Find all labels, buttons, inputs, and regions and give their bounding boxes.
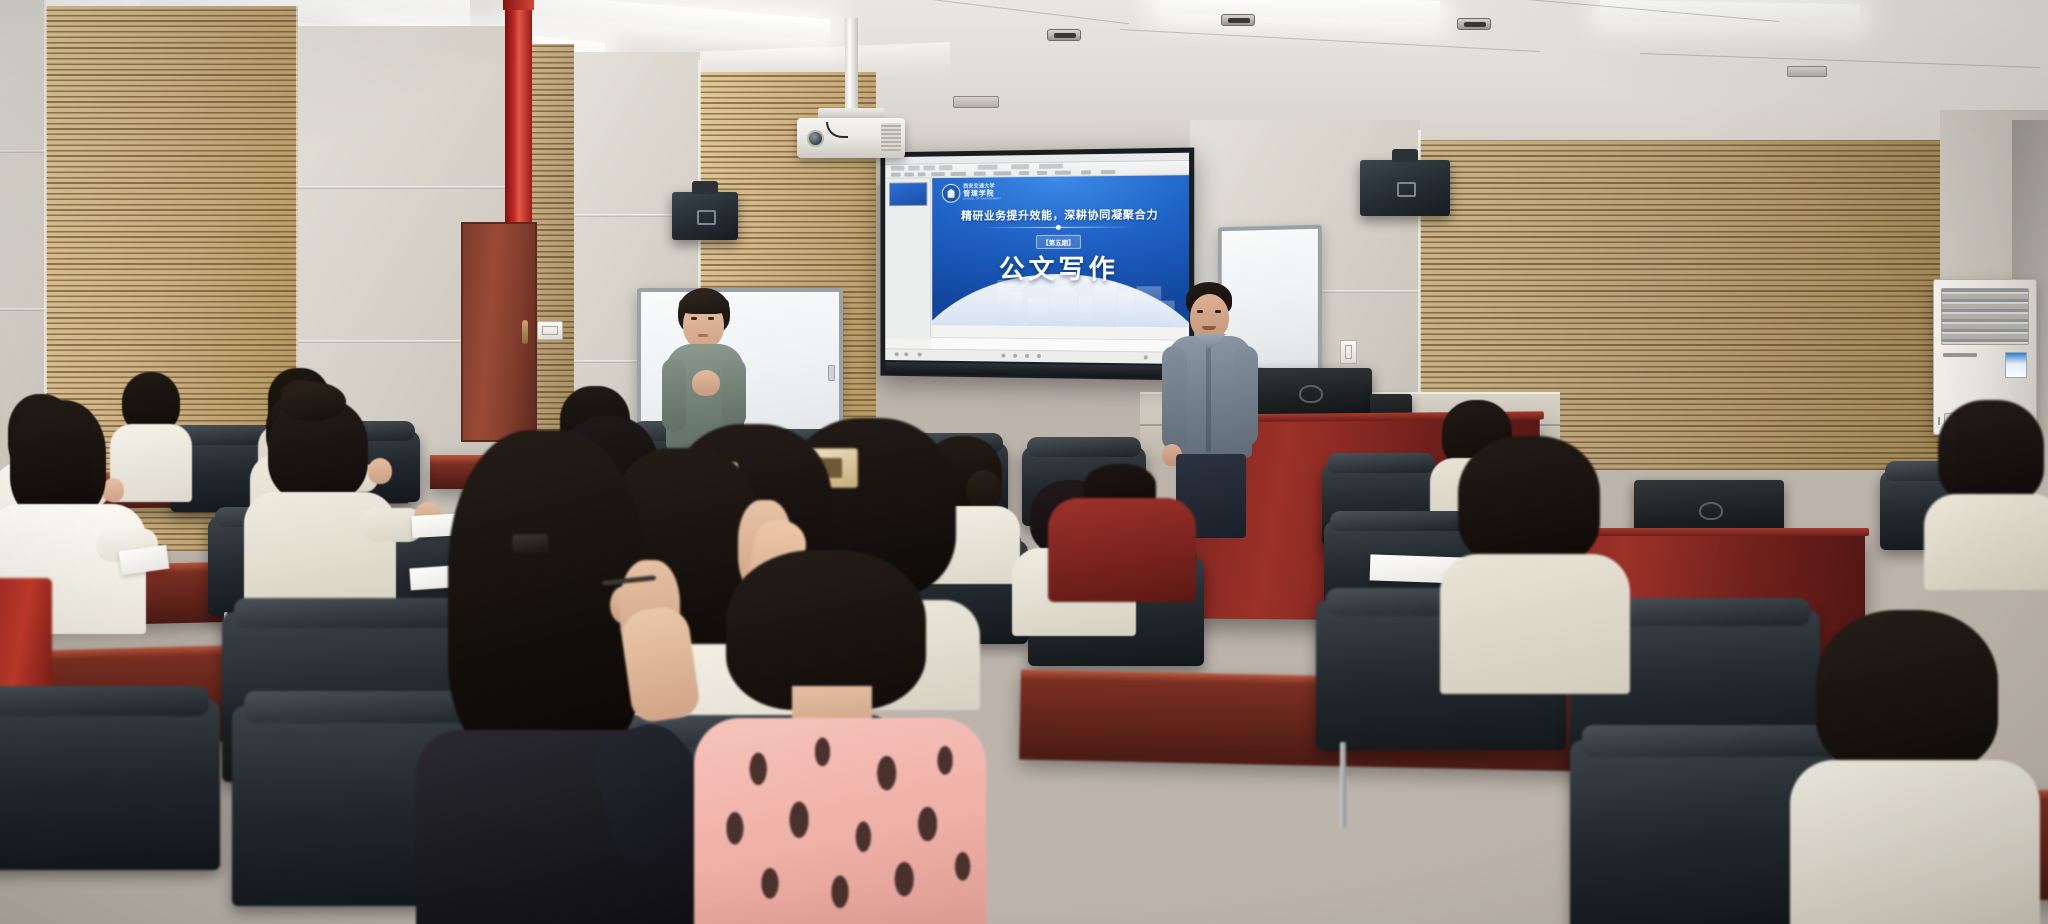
audience-torso xyxy=(1440,554,1630,694)
ppt-slide: 西安交通大学 管理学院 SCHOOL OF MANAGEMENT 精研业务提升效… xyxy=(932,175,1189,327)
audience-hair xyxy=(1458,436,1600,566)
hair-tie-clip xyxy=(512,534,548,552)
light-switch-panel[interactable] xyxy=(537,321,563,340)
ribbon-button-6[interactable] xyxy=(994,171,1012,175)
audience-member-mid-2 xyxy=(238,398,398,588)
presenter-eye-right xyxy=(708,317,714,320)
red-chair-corner xyxy=(0,578,52,698)
university-seal-icon xyxy=(942,184,960,203)
audience-member-clapping-black xyxy=(432,430,692,920)
audience-member-pink-spotted xyxy=(700,550,980,924)
host-shirt-placket xyxy=(1206,340,1211,452)
wall-speaker-right xyxy=(1360,160,1450,216)
ac-brand-logo xyxy=(1943,353,1977,357)
slide-presenter-meta: 主讲人：高从军 2024年9月10日 xyxy=(932,293,1189,312)
host-eye-left xyxy=(1197,310,1203,313)
projection-screen-bottom-bar xyxy=(885,362,1189,378)
ribbon-tab-3[interactable] xyxy=(939,165,953,170)
wall-speaker-left xyxy=(672,192,738,240)
slide-university-logo: 西安交通大学 管理学院 SCHOOL OF MANAGEMENT xyxy=(942,183,1001,202)
ppt-slide-thumbnail-1[interactable] xyxy=(889,182,927,206)
audience-hair xyxy=(1938,400,2044,504)
ribbon-button-2[interactable] xyxy=(918,172,926,176)
audience-member-bottom-right-3 xyxy=(1930,400,2048,580)
slide-date-line: 2024年9月10日 xyxy=(932,301,1189,311)
slide-session-badge-text: 【第五期】 xyxy=(1036,235,1080,249)
presenter-eye-left xyxy=(691,317,697,320)
audience-torso xyxy=(1790,760,2040,924)
whiteboard-clip xyxy=(828,365,835,381)
smoke-detector-right xyxy=(1221,14,1255,26)
ribbon-tab-5[interactable] xyxy=(1011,164,1029,169)
audience-hair xyxy=(10,400,106,520)
conference-room-photo: 西安交通大学 管理学院 SCHOOL OF MANAGEMENT 精研业务提升效… xyxy=(0,0,2048,924)
ribbon-tab-6[interactable] xyxy=(1039,164,1063,169)
presenter-hair-fringe xyxy=(679,294,729,314)
status-indicator xyxy=(895,352,899,356)
slide-session-badge: 【第五期】 xyxy=(932,231,1189,250)
ribbon-button-5[interactable] xyxy=(974,172,986,176)
presenter-arm-right xyxy=(722,358,746,428)
ribbon-tab-1[interactable] xyxy=(908,166,920,171)
ribbon-button-0[interactable] xyxy=(891,173,901,177)
ceiling-projector xyxy=(797,118,905,158)
ribbon-button-11[interactable] xyxy=(1101,170,1115,174)
ribbon-button-10[interactable] xyxy=(1081,170,1091,174)
door-handle[interactable] xyxy=(522,320,528,344)
view-button-reading[interactable] xyxy=(1025,354,1029,358)
chair-leg xyxy=(1340,742,1346,828)
projection-screen-surface: 西安交通大学 管理学院 SCHOOL OF MANAGEMENT 精研业务提升效… xyxy=(885,153,1189,364)
slide-logo-line1: 西安交通大学 xyxy=(963,185,1001,190)
host-arm-left xyxy=(1162,346,1187,450)
slide-logo-line3: SCHOOL OF MANAGEMENT xyxy=(963,199,1001,202)
host-eye-right xyxy=(1215,310,1221,313)
red-pillar-cap xyxy=(503,0,534,10)
projector-lens xyxy=(807,130,824,147)
chair-headrest xyxy=(1027,437,1141,457)
audience-hair xyxy=(1816,610,1998,772)
audience-member-bottom-right-2 xyxy=(1800,610,2030,924)
view-button-slideshow[interactable] xyxy=(1037,354,1041,358)
smoke-detector-far-right xyxy=(1457,18,1491,30)
chair-headrest xyxy=(0,686,209,716)
audience-torso xyxy=(1924,494,2048,590)
audience-member-maroon xyxy=(1048,464,1196,594)
ppt-thumbnail-pane[interactable] xyxy=(885,178,931,339)
room-door[interactable] xyxy=(461,222,537,442)
ac-spec-badge xyxy=(2005,352,2027,378)
ribbon-button-1[interactable] xyxy=(904,173,914,177)
audience-member-bottom-right xyxy=(1444,436,1624,686)
projection-screen: 西安交通大学 管理学院 SCHOOL OF MANAGEMENT 精研业务提升效… xyxy=(880,148,1194,381)
presenter-hands-clasped xyxy=(692,370,720,396)
ribbon-button-9[interactable] xyxy=(1055,171,1071,175)
audience-torso-pink xyxy=(694,718,986,924)
smoke-detector-mid xyxy=(1047,29,1081,41)
host-head xyxy=(1190,294,1229,340)
audience-hair-bun xyxy=(280,382,346,422)
projector-vent xyxy=(881,123,901,151)
view-button-sorter[interactable] xyxy=(1013,354,1017,358)
ribbon-button-3[interactable] xyxy=(931,172,945,176)
zoom-out-button[interactable] xyxy=(1144,355,1148,359)
audience-clapping-hand xyxy=(619,604,702,724)
wall-seam-fl-1 xyxy=(0,150,46,153)
slide-headline: 精研业务提升效能，深耕协同凝聚合力 xyxy=(932,206,1189,224)
wall-seam-fl-2 xyxy=(0,308,46,311)
view-button-normal[interactable] xyxy=(1001,354,1005,358)
ribbon-tab-2[interactable] xyxy=(924,165,936,170)
ribbon-button-4[interactable] xyxy=(951,172,967,176)
slide-logo-text: 西安交通大学 管理学院 SCHOOL OF MANAGEMENT xyxy=(963,185,1001,202)
ribbon-button-7[interactable] xyxy=(1019,171,1029,175)
audience-chair xyxy=(0,700,220,870)
ac-air-grille xyxy=(1941,288,2029,345)
status-indicator xyxy=(904,352,908,356)
chair-headrest xyxy=(1327,453,1436,473)
presenter-mouth xyxy=(698,334,708,337)
ceiling-air-vent-right xyxy=(1787,66,1827,77)
host-smile xyxy=(1202,326,1216,330)
ceiling-air-vent xyxy=(953,96,999,108)
audience-torso-maroon xyxy=(1048,498,1196,602)
slide-divider-rule xyxy=(982,226,1136,228)
light-switch-panel-right[interactable] xyxy=(1340,340,1357,364)
ribbon-button-8[interactable] xyxy=(1037,171,1047,175)
projector-mount-pole xyxy=(845,18,858,114)
host-arm-right xyxy=(1234,346,1258,446)
slide-main-title: 公文写作 xyxy=(932,249,1189,287)
status-indicator xyxy=(918,353,922,357)
ribbon-tab-0[interactable] xyxy=(891,166,904,171)
ribbon-tab-4[interactable] xyxy=(978,164,998,169)
